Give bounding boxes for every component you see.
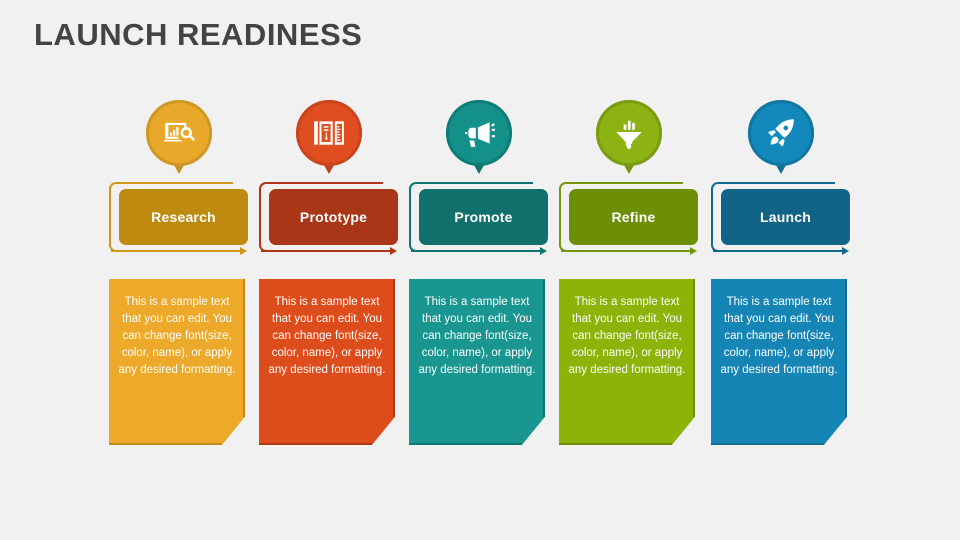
funnel-chart-icon [612,116,646,150]
step-body-text: This is a sample text that you can edit.… [265,294,389,379]
card-edge-right [393,279,395,417]
process-step-launch: LaunchThis is a sample text that you can… [711,100,850,445]
step-label: Launch [760,209,811,225]
step-arrow-icon [713,250,849,252]
step-label-box[interactable]: Prototype [269,189,398,245]
megaphone-icon [462,116,496,150]
step-body-card[interactable]: This is a sample text that you can edit.… [409,279,545,445]
step-label: Refine [612,209,656,225]
card-edge-bottom [109,443,222,445]
card-edge-bottom [409,443,522,445]
step-arrow-icon [261,250,397,252]
step-pin-marker[interactable] [596,100,662,166]
step-label: Prototype [300,209,367,225]
process-step-refine: RefineThis is a sample text that you can… [559,100,698,445]
page-title: LAUNCH READINESS [34,17,362,53]
step-pin-marker[interactable] [146,100,212,166]
step-label-box[interactable]: Research [119,189,248,245]
card-edge-right [243,279,245,417]
step-body-text: This is a sample text that you can edit.… [717,294,841,379]
step-pin-marker[interactable] [296,100,362,166]
card-edge-diagonal [372,444,397,469]
card-edge-diagonal [824,444,849,469]
card-edge-right [693,279,695,417]
step-arrow-icon [111,250,247,252]
rocket-icon [764,116,798,150]
step-body-text: This is a sample text that you can edit.… [115,294,239,379]
card-edge-bottom [711,443,824,445]
step-label-wrap: Promote [409,182,548,260]
process-steps-container: ResearchThis is a sample text that you c… [109,100,854,445]
step-label-box[interactable]: Refine [569,189,698,245]
step-label-wrap: Refine [559,182,698,260]
card-edge-diagonal [222,444,247,469]
laptop-chart-search-icon [162,116,196,150]
step-pin-marker[interactable] [748,100,814,166]
step-label-wrap: Prototype [259,182,398,260]
step-label-wrap: Launch [711,182,850,260]
card-edge-diagonal [522,444,547,469]
process-step-research: ResearchThis is a sample text that you c… [109,100,248,445]
step-label-wrap: Research [109,182,248,260]
step-body-card[interactable]: This is a sample text that you can edit.… [109,279,245,445]
step-arrow-icon [411,250,547,252]
step-pin-marker[interactable] [446,100,512,166]
card-edge-right [845,279,847,417]
step-body-card[interactable]: This is a sample text that you can edit.… [711,279,847,445]
step-body-text: This is a sample text that you can edit.… [415,294,539,379]
card-edge-diagonal [672,444,697,469]
process-step-promote: PromoteThis is a sample text that you ca… [409,100,548,445]
process-step-prototype: PrototypeThis is a sample text that you … [259,100,398,445]
step-label: Promote [454,209,512,225]
step-body-card[interactable]: This is a sample text that you can edit.… [559,279,695,445]
step-label-box[interactable]: Promote [419,189,548,245]
step-body-card[interactable]: This is a sample text that you can edit.… [259,279,395,445]
step-arrow-icon [561,250,697,252]
step-label-box[interactable]: Launch [721,189,850,245]
card-edge-bottom [259,443,372,445]
card-edge-bottom [559,443,672,445]
step-label: Research [151,209,216,225]
card-edge-right [543,279,545,417]
step-body-text: This is a sample text that you can edit.… [565,294,689,379]
blueprint-ruler-icon [312,116,346,150]
